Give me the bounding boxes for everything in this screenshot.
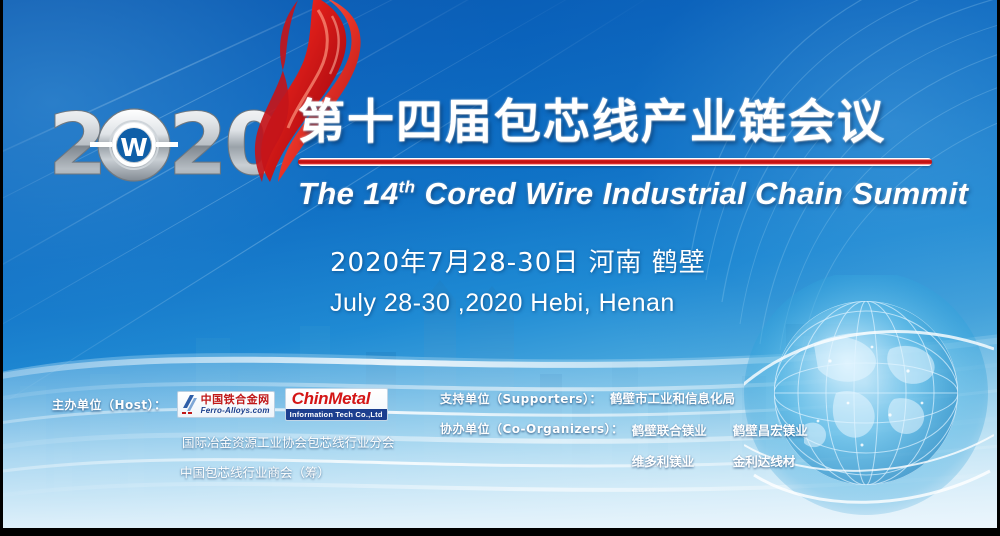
- host-row: 主办单位（Host）： 中国铁合金网 Ferro-Alloys.com Chin…: [52, 388, 442, 421]
- headline-group: 第十四届包芯线产业链会议 The 14th Cored Wire Industr…: [298, 92, 938, 212]
- date-venue-english: July 28-30 ,2020 Hebi, Henan: [330, 289, 706, 318]
- background-glow-left: [0, 0, 520, 440]
- year-logo-2020: 2 2 0 W: [46, 98, 306, 190]
- co-organizer-item: 鹤壁昌宏镁业: [733, 420, 808, 439]
- host-org-1: 国际冶金资源工业协会包芯线行业分会: [182, 432, 442, 451]
- chinmetal-brand-part-b: Metal: [328, 389, 370, 408]
- supporters-row: 支持单位（Supporters）： 鹤壁市工业和信息化局: [440, 388, 790, 407]
- ferro-alloys-logo[interactable]: 中国铁合金网 Ferro-Alloys.com: [177, 391, 275, 418]
- ferro-alloys-name-cn: 中国铁合金网: [201, 394, 270, 405]
- co-organizer-item: 维多利镁业: [632, 451, 707, 470]
- title-chinese: 第十四届包芯线产业链会议: [298, 92, 938, 154]
- host-section: 主办单位（Host）： 中国铁合金网 Ferro-Alloys.com Chin…: [52, 388, 442, 481]
- chinmetal-brand-part-a: Chin: [292, 389, 329, 408]
- year-logo-svg: 2 2 0 W: [46, 98, 306, 190]
- chinmetal-brand: ChinMetal: [286, 389, 387, 409]
- supporters-label: 支持单位（Supporters）：: [440, 390, 602, 407]
- event-date-venue: 2020年7月28-30日 河南 鹤壁 July 28-30 ,2020 Heb…: [330, 242, 706, 318]
- ferro-alloys-mark-icon: [181, 394, 198, 414]
- co-organizers-column-1: 鹤壁联合镁业 维多利镁业: [632, 420, 707, 470]
- supporters-section: 支持单位（Supporters）： 鹤壁市工业和信息化局 协办单位（Co-Org…: [440, 388, 790, 470]
- ferro-alloys-name-en: Ferro-Alloys.com: [201, 407, 270, 415]
- chinmetal-logo[interactable]: ChinMetal Information Tech Co.,Ltd: [285, 388, 388, 421]
- conference-banner: 2 2 0 W: [0, 0, 1000, 536]
- co-organizers-column-2: 鹤壁昌宏镁业 金利达线材: [733, 420, 808, 470]
- emblem-letter-w: W: [120, 133, 148, 162]
- co-organizer-item: 鹤壁联合镁业: [632, 420, 707, 439]
- co-organizers-label: 协办单位（Co-Organizers）：: [440, 420, 624, 437]
- title-english-prefix: The 14: [298, 176, 399, 211]
- left-black-edge: [0, 0, 3, 536]
- co-organizers-columns: 鹤壁联合镁业 维多利镁业 鹤壁昌宏镁业 金利达线材: [632, 420, 808, 470]
- svg-text:0: 0: [224, 98, 282, 190]
- ferro-alloys-text: 中国铁合金网 Ferro-Alloys.com: [201, 394, 270, 415]
- title-english-rest: Cored Wire Industrial Chain Summit: [415, 176, 968, 211]
- supporters-value: 鹤壁市工业和信息化局: [610, 388, 735, 407]
- title-english: The 14th Cored Wire Industrial Chain Sum…: [298, 176, 938, 212]
- co-organizer-item: 金利达线材: [733, 451, 808, 470]
- date-venue-chinese: 2020年7月28-30日 河南 鹤壁: [330, 242, 706, 279]
- bottom-black-strip: [0, 528, 1000, 536]
- co-organizers-row: 协办单位（Co-Organizers）： 鹤壁联合镁业 维多利镁业 鹤壁昌宏镁业…: [440, 420, 790, 470]
- chinmetal-subtitle: Information Tech Co.,Ltd: [286, 409, 387, 420]
- title-english-ordinal: th: [399, 178, 416, 197]
- host-label: 主办单位（Host）：: [52, 396, 167, 413]
- title-divider-rule: [298, 158, 932, 166]
- host-org-2: 中国包芯线行业商会（筹）: [180, 462, 442, 481]
